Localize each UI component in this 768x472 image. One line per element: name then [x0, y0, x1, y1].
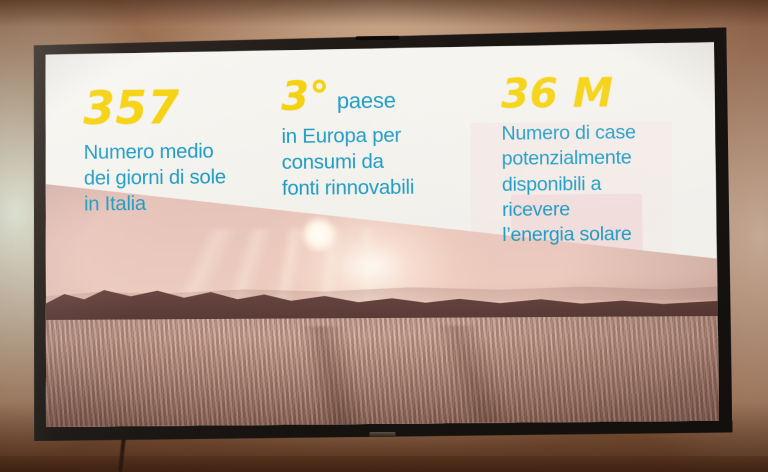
- slide-stat-columns: 357 Numero medio dei giorni di sole in I…: [43, 42, 720, 427]
- stat-column-2: 3° paese in Europa per consumi da fonti …: [281, 75, 487, 203]
- stat-caption-1: Numero medio dei giorni di sole in Itali…: [84, 138, 297, 218]
- stat-column-3: 36 M Numero di case potenzialmente dispo…: [501, 72, 715, 249]
- stat-caption-3: Numero di case potenzialmente disponibil…: [501, 119, 714, 248]
- tv-screen: 357 Numero medio dei giorni di sole in I…: [43, 42, 720, 427]
- television: 357 Numero medio dei giorni di sole in I…: [30, 27, 733, 441]
- stat-suffix-2: paese: [337, 89, 396, 117]
- stat-caption-2: in Europa per consumi da fonti rinnovabi…: [281, 122, 487, 203]
- baseboard: [0, 456, 768, 472]
- tv-brand-mark: [370, 432, 396, 437]
- ir-sensor-icon: [355, 36, 399, 41]
- stat-value-2: 3°: [281, 77, 330, 117]
- stat-value-1: 357: [83, 83, 296, 131]
- stat-value-3: 36 M: [501, 72, 714, 115]
- stat-column-1: 357 Numero medio dei giorni di sole in I…: [83, 83, 297, 218]
- stat-value-row-2: 3° paese: [281, 75, 486, 117]
